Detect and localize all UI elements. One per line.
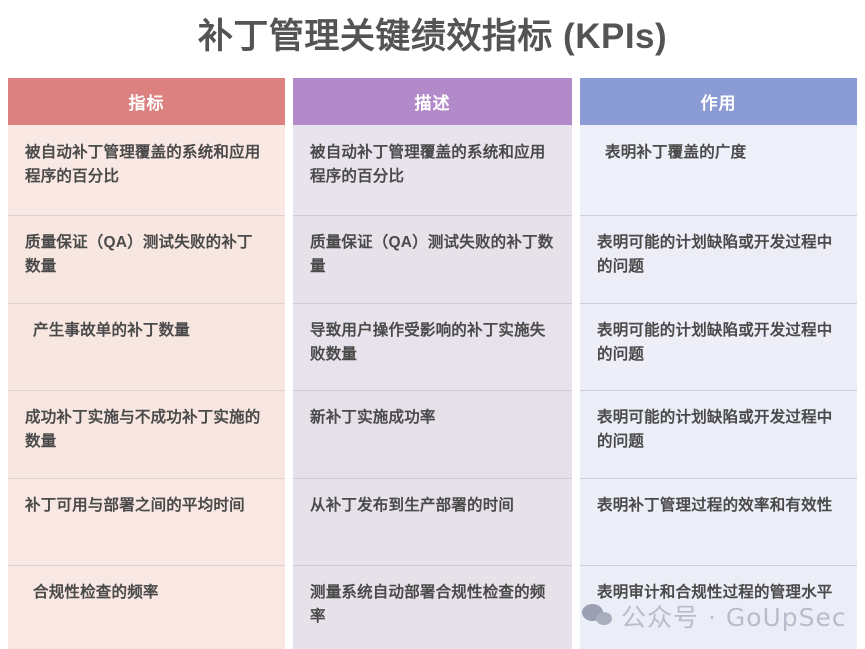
cell-description-4: 从补丁发布到生产部署的时间 xyxy=(310,497,514,514)
slide-page: 补丁管理关键绩效指标 (KPIs) 指标 被自动补丁管理覆盖的系统和应用程序的百… xyxy=(0,0,865,649)
table-row: 表明补丁管理过程的效率和有效性 xyxy=(580,478,857,565)
cell-purpose-2: 表明可能的计划缺陷或开发过程中的问题 xyxy=(597,322,833,363)
table-row: 表明可能的计划缺陷或开发过程中的问题 xyxy=(580,303,857,390)
kpi-table: 指标 被自动补丁管理覆盖的系统和应用程序的百分比 质量保证（QA）测试失败的补丁… xyxy=(8,78,857,649)
page-title: 补丁管理关键绩效指标 (KPIs) xyxy=(0,2,865,64)
table-row: 导致用户操作受影响的补丁实施失败数量 xyxy=(293,303,572,390)
cell-description-1: 质量保证（QA）测试失败的补丁数量 xyxy=(310,234,553,275)
table-row: 合规性检查的频率 xyxy=(8,565,285,649)
column-cells-purpose: 表明补丁覆盖的广度 表明可能的计划缺陷或开发过程中的问题 表明可能的计划缺陷或开… xyxy=(580,125,857,649)
cell-description-2: 导致用户操作受影响的补丁实施失败数量 xyxy=(310,322,546,363)
table-column-purpose: 作用 表明补丁覆盖的广度 表明可能的计划缺陷或开发过程中的问题 表明可能的计划缺… xyxy=(580,78,857,649)
cell-metric-4: 补丁可用与部署之间的平均时间 xyxy=(25,497,245,514)
table-row: 表明审计和合规性过程的管理水平 xyxy=(580,565,857,649)
table-row: 质量保证（QA）测试失败的补丁数量 xyxy=(293,215,572,303)
cell-purpose-4: 表明补丁管理过程的效率和有效性 xyxy=(597,497,833,514)
cell-purpose-0: 表明补丁覆盖的广度 xyxy=(605,144,746,161)
column-header-purpose: 作用 xyxy=(580,78,857,125)
table-row: 新补丁实施成功率 xyxy=(293,390,572,478)
table-row: 表明可能的计划缺陷或开发过程中的问题 xyxy=(580,390,857,478)
cell-description-0: 被自动补丁管理覆盖的系统和应用程序的百分比 xyxy=(310,144,546,185)
table-row: 质量保证（QA）测试失败的补丁数量 xyxy=(8,215,285,303)
column-header-description: 描述 xyxy=(293,78,572,125)
column-cells-description: 被自动补丁管理覆盖的系统和应用程序的百分比 - 质量保证（QA）测试失败的补丁数… xyxy=(293,125,572,649)
table-row: 成功补丁实施与不成功补丁实施的数量 xyxy=(8,390,285,478)
cell-metric-5: 合规性检查的频率 xyxy=(33,584,159,601)
table-row: 表明可能的计划缺陷或开发过程中的问题 xyxy=(580,215,857,303)
column-cells-metric: 被自动补丁管理覆盖的系统和应用程序的百分比 质量保证（QA）测试失败的补丁数量 … xyxy=(8,125,285,649)
table-row: 被自动补丁管理覆盖的系统和应用程序的百分比 - xyxy=(293,125,572,215)
cell-purpose-1: 表明可能的计划缺陷或开发过程中的问题 xyxy=(597,234,833,275)
cell-metric-1: 质量保证（QA）测试失败的补丁数量 xyxy=(25,234,253,275)
table-row: 产生事故单的补丁数量 xyxy=(8,303,285,390)
cell-purpose-3: 表明可能的计划缺陷或开发过程中的问题 xyxy=(597,409,833,450)
cell-metric-0: 被自动补丁管理覆盖的系统和应用程序的百分比 xyxy=(25,144,261,185)
cell-description-3: 新补丁实施成功率 xyxy=(310,409,436,426)
table-column-description: 描述 被自动补丁管理覆盖的系统和应用程序的百分比 - 质量保证（QA）测试失败的… xyxy=(293,78,572,649)
cell-purpose-5: 表明审计和合规性过程的管理水平 xyxy=(597,584,833,601)
column-header-metric: 指标 xyxy=(8,78,285,125)
table-row: 从补丁发布到生产部署的时间 · · · · xyxy=(293,478,572,565)
cell-description-5: 测量系统自动部署合规性检查的频率 xyxy=(310,584,546,625)
table-row: 被自动补丁管理覆盖的系统和应用程序的百分比 xyxy=(8,125,285,215)
table-column-metric: 指标 被自动补丁管理覆盖的系统和应用程序的百分比 质量保证（QA）测试失败的补丁… xyxy=(8,78,285,649)
table-row: 表明补丁覆盖的广度 xyxy=(580,125,857,215)
cell-metric-3: 成功补丁实施与不成功补丁实施的数量 xyxy=(25,409,261,450)
cell-metric-2: 产生事故单的补丁数量 xyxy=(33,322,190,339)
table-row: 测量系统自动部署合规性检查的频率 · · · · · · · · xyxy=(293,565,572,649)
table-row: 补丁可用与部署之间的平均时间 · · · · xyxy=(8,478,285,565)
